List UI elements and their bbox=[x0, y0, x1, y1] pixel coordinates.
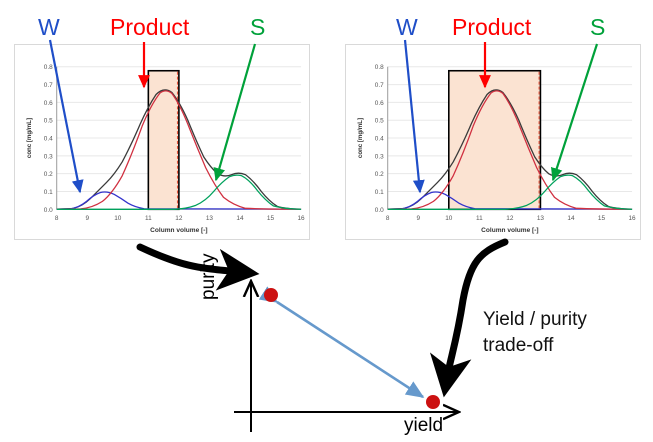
svg-text:0.3: 0.3 bbox=[375, 153, 384, 160]
tradeoff-caption: Yield / purity trade-off bbox=[483, 307, 648, 359]
x-tick-labels: 8 9 10 11 12 13 14 15 16 bbox=[55, 215, 305, 222]
svg-text:0.3: 0.3 bbox=[44, 153, 53, 160]
svg-text:0.1: 0.1 bbox=[44, 189, 53, 196]
x-axis-title: Column volume [-] bbox=[150, 227, 207, 234]
species-label-strong-left: S bbox=[250, 16, 265, 39]
tradeoff-point-wide-window[interactable] bbox=[426, 395, 440, 409]
svg-text:0.2: 0.2 bbox=[375, 171, 384, 178]
svg-text:14: 14 bbox=[567, 215, 575, 222]
tradeoff-double-arrow bbox=[277, 302, 423, 397]
svg-text:0.7: 0.7 bbox=[44, 82, 53, 89]
svg-text:0.2: 0.2 bbox=[44, 171, 53, 178]
svg-text:16: 16 bbox=[628, 215, 636, 222]
y-axis-title: conc [mg/mL] bbox=[357, 118, 364, 158]
figure-canvas: 0.8 0.7 0.6 0.5 0.4 0.3 0.2 0.1 0.0 8 9 … bbox=[0, 0, 653, 442]
svg-text:0.4: 0.4 bbox=[375, 136, 384, 143]
svg-text:0.4: 0.4 bbox=[44, 136, 53, 143]
svg-text:12: 12 bbox=[175, 215, 183, 222]
tradeoff-x-axis-label: yield bbox=[404, 415, 443, 437]
svg-text:0.6: 0.6 bbox=[375, 100, 384, 107]
species-label-strong-right: S bbox=[590, 16, 605, 39]
chromatogram-wide-svg: 0.8 0.7 0.6 0.5 0.4 0.3 0.2 0.1 0.0 8 9 … bbox=[346, 45, 640, 239]
svg-text:9: 9 bbox=[416, 215, 420, 222]
tradeoff-caption-line1: Yield / purity bbox=[483, 307, 648, 333]
svg-text:11: 11 bbox=[476, 215, 483, 222]
svg-text:9: 9 bbox=[85, 215, 89, 222]
svg-text:8: 8 bbox=[55, 215, 59, 222]
svg-text:0.8: 0.8 bbox=[44, 64, 53, 71]
x-tick-labels: 8 9 10 11 12 13 14 15 16 bbox=[386, 215, 636, 222]
y-tick-labels: 0.8 0.7 0.6 0.5 0.4 0.3 0.2 0.1 0.0 bbox=[375, 64, 384, 214]
species-label-waste-left: W bbox=[38, 16, 60, 39]
species-label-product-right: Product bbox=[452, 16, 531, 39]
svg-text:0.8: 0.8 bbox=[375, 64, 384, 71]
svg-text:0.5: 0.5 bbox=[375, 118, 384, 125]
svg-text:13: 13 bbox=[537, 215, 545, 222]
svg-text:0.7: 0.7 bbox=[375, 82, 384, 89]
svg-text:15: 15 bbox=[598, 215, 606, 222]
svg-text:12: 12 bbox=[506, 215, 514, 222]
svg-text:0.6: 0.6 bbox=[44, 100, 53, 107]
svg-text:15: 15 bbox=[267, 215, 275, 222]
svg-text:0.5: 0.5 bbox=[44, 118, 53, 125]
svg-text:0.0: 0.0 bbox=[44, 207, 53, 214]
tradeoff-point-narrow-window[interactable] bbox=[264, 288, 278, 302]
y-tick-labels: 0.8 0.7 0.6 0.5 0.4 0.3 0.2 0.1 0.0 bbox=[44, 64, 53, 214]
tradeoff-caption-line2: trade-off bbox=[483, 333, 648, 359]
chromatogram-narrow-window: 0.8 0.7 0.6 0.5 0.4 0.3 0.2 0.1 0.0 8 9 … bbox=[14, 44, 310, 240]
x-axis-title: Column volume [-] bbox=[481, 227, 538, 234]
species-label-product-left: Product bbox=[110, 16, 189, 39]
species-label-waste-right: W bbox=[396, 16, 418, 39]
svg-text:10: 10 bbox=[445, 215, 453, 222]
chromatogram-wide-window: 0.8 0.7 0.6 0.5 0.4 0.3 0.2 0.1 0.0 8 9 … bbox=[345, 44, 641, 240]
svg-text:16: 16 bbox=[297, 215, 305, 222]
svg-text:0.1: 0.1 bbox=[375, 189, 384, 196]
svg-text:11: 11 bbox=[145, 215, 152, 222]
chromatogram-narrow-svg: 0.8 0.7 0.6 0.5 0.4 0.3 0.2 0.1 0.0 8 9 … bbox=[15, 45, 309, 239]
tradeoff-y-axis-label: purity bbox=[198, 254, 220, 300]
svg-text:14: 14 bbox=[236, 215, 244, 222]
y-axis-title: conc [mg/mL] bbox=[26, 118, 33, 158]
svg-text:13: 13 bbox=[206, 215, 214, 222]
svg-text:0.0: 0.0 bbox=[375, 207, 384, 214]
svg-text:8: 8 bbox=[386, 215, 390, 222]
svg-text:10: 10 bbox=[114, 215, 122, 222]
